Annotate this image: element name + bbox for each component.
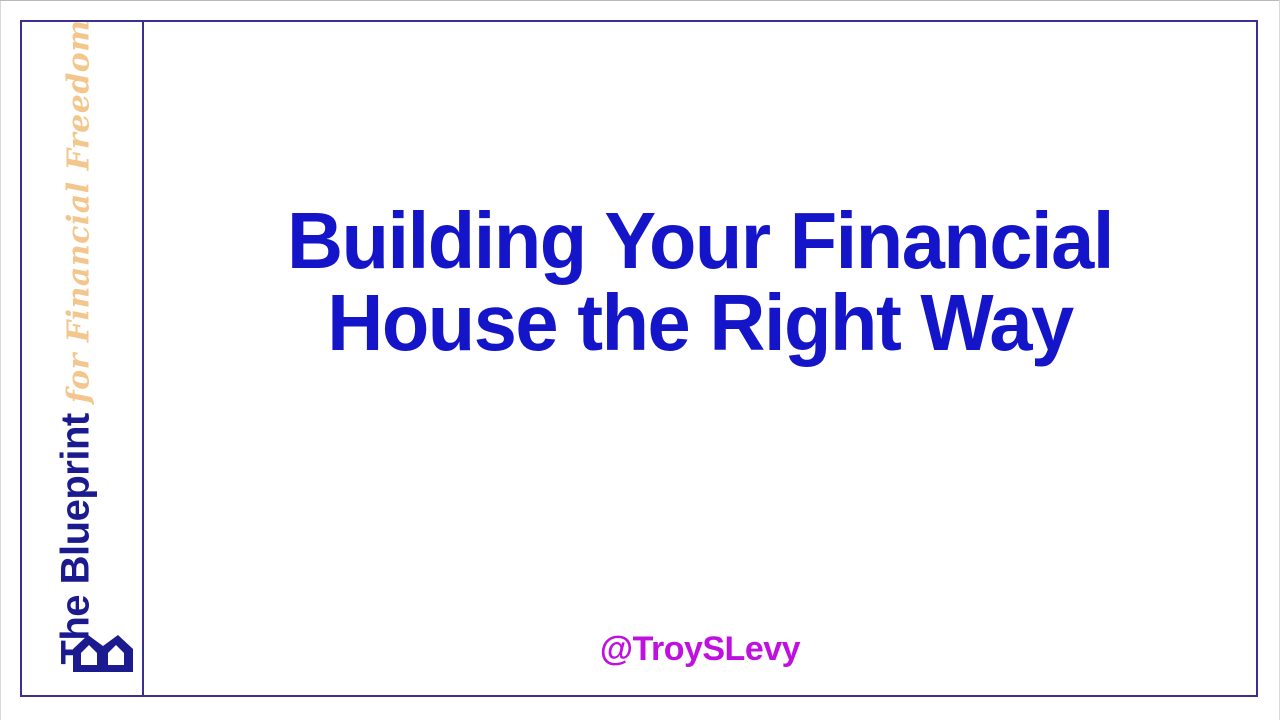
slide-title-line-2: House the Right Way <box>178 282 1222 364</box>
sidebar: The Blueprint for Financial Freedom <box>22 22 142 695</box>
social-handle-block: @TroySLevy <box>144 630 1256 669</box>
page-edge-top <box>0 0 1280 1</box>
brand-tagline: for Financial Freedom <box>65 19 95 403</box>
brand-lockup: The Blueprint for Financial Freedom <box>22 22 142 582</box>
slide-frame-border: The Blueprint for Financial Freedom Buil… <box>20 20 1258 697</box>
slide-canvas: The Blueprint for Financial Freedom Buil… <box>0 0 1280 720</box>
slide-title-line-1: Building Your Financial <box>178 200 1222 282</box>
blueprint-house-logo-icon <box>72 627 134 673</box>
slide-title: Building Your Financial House the Right … <box>178 200 1222 363</box>
slide-main-content: Building Your Financial House the Right … <box>144 22 1256 695</box>
social-handle: @TroySLevy <box>600 630 800 668</box>
page-title: Building Your Financial House the Right … <box>144 200 1256 363</box>
page-edge-left <box>0 0 1 720</box>
